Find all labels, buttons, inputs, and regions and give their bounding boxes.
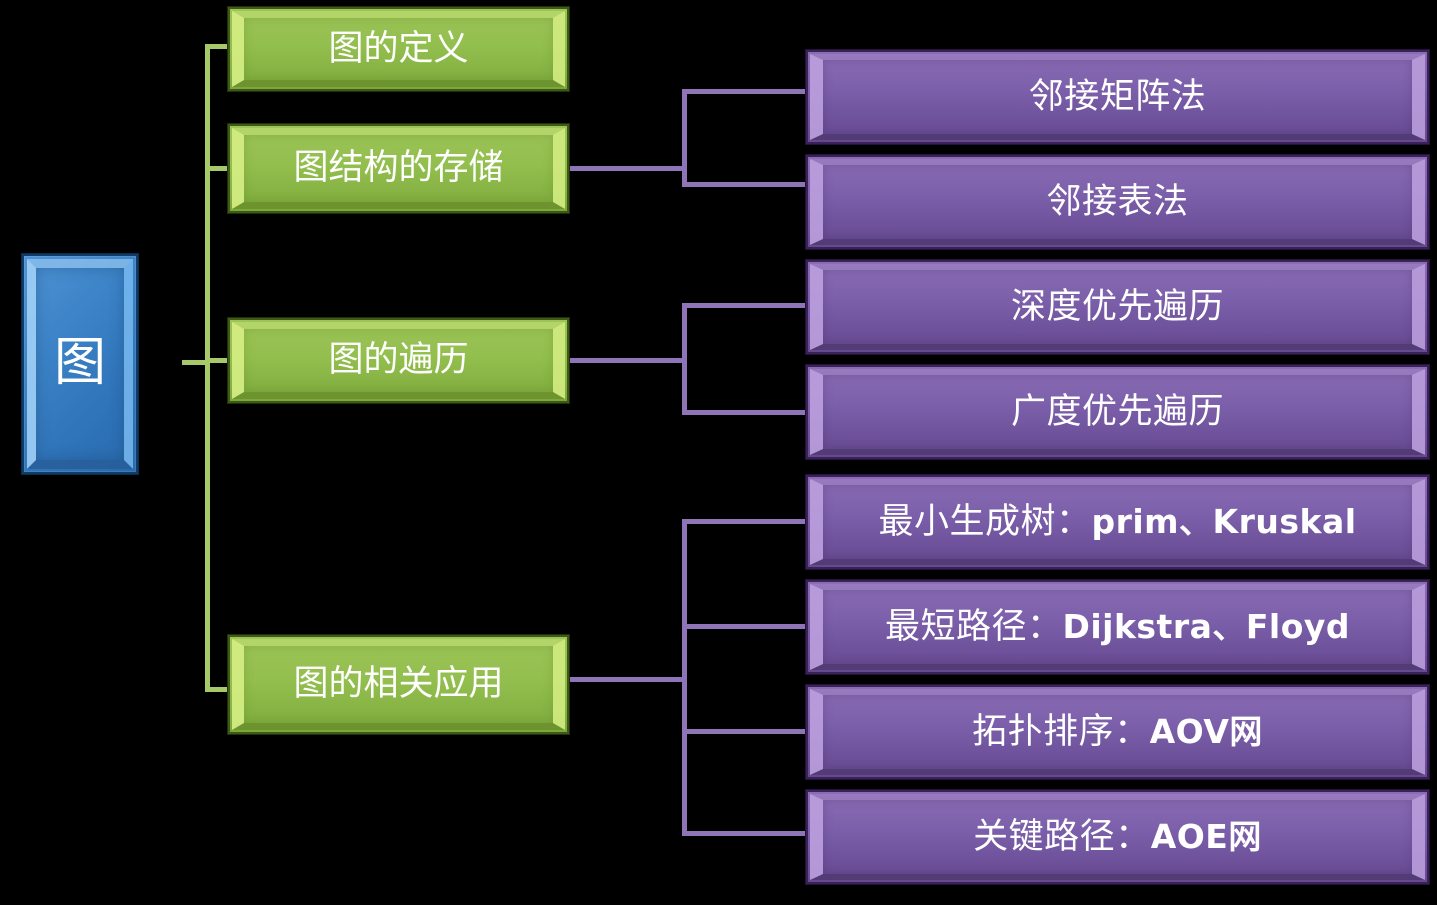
connector-purple-spine-a — [682, 89, 687, 187]
branch-node-label: 图的遍历 — [230, 341, 567, 380]
leaf-node-label: 最短路径：Dijkstra、Floyd — [808, 608, 1427, 647]
connector-purple-arm-c4 — [682, 831, 810, 836]
diagram-canvas: 图 图的定义 图结构的存储 图的遍历 图的相关应用 邻接矩阵法 邻接表法 深度优… — [0, 0, 1437, 905]
leaf-node-critical-path[interactable]: 关键路径：AOE网 — [806, 790, 1429, 884]
leaf-node-label: 关键路径：AOE网 — [808, 818, 1427, 857]
connector-root-stub — [182, 360, 210, 365]
leaf-node-bfs[interactable]: 广度优先遍历 — [806, 365, 1429, 459]
connector-purple-arm-b2 — [682, 410, 810, 415]
branch-node-label: 图结构的存储 — [230, 149, 567, 188]
leaf-node-dfs[interactable]: 深度优先遍历 — [806, 260, 1429, 354]
leaf-node-label-en: Dijkstra、Floyd — [1062, 607, 1350, 646]
leaf-node-label-cn: 拓扑排序： — [972, 712, 1150, 751]
leaf-node-label-cn: 最小生成树： — [878, 502, 1091, 541]
branch-node-label: 图的定义 — [230, 30, 567, 69]
leaf-node-label: 拓扑排序：AOV网 — [808, 713, 1427, 752]
root-node-label: 图 — [24, 335, 136, 392]
connector-purple-spine-c — [682, 519, 687, 831]
branch-node-storage[interactable]: 图结构的存储 — [228, 124, 569, 213]
connector-green-trunk — [205, 44, 210, 692]
leaf-node-label: 深度优先遍历 — [808, 288, 1427, 327]
connector-purple-stem-b — [568, 358, 686, 363]
leaf-node-label-cn: 邻接表法 — [1046, 182, 1188, 221]
connector-purple-arm-b1 — [682, 303, 810, 308]
root-node-graph[interactable]: 图 — [22, 254, 138, 474]
leaf-node-label-cn: 关键路径： — [973, 817, 1151, 856]
branch-node-definition[interactable]: 图的定义 — [228, 7, 569, 91]
connector-purple-arm-a1 — [682, 89, 810, 94]
leaf-node-label-en: AOE网 — [1151, 817, 1262, 856]
leaf-node-label-en: AOV网 — [1150, 712, 1263, 751]
branch-node-label: 图的相关应用 — [230, 665, 567, 704]
leaf-node-label: 最小生成树：prim、Kruskal — [808, 503, 1427, 542]
leaf-node-label-cn: 深度优先遍历 — [1011, 287, 1224, 326]
branch-node-traversal[interactable]: 图的遍历 — [228, 318, 569, 403]
connector-purple-arm-c3 — [682, 729, 810, 734]
leaf-node-label: 广度优先遍历 — [808, 393, 1427, 432]
leaf-node-shortest-path[interactable]: 最短路径：Dijkstra、Floyd — [806, 580, 1429, 674]
connector-purple-arm-a2 — [682, 182, 810, 187]
leaf-node-label: 邻接表法 — [808, 183, 1427, 222]
leaf-node-label: 邻接矩阵法 — [808, 78, 1427, 117]
leaf-node-label-cn: 邻接矩阵法 — [1029, 77, 1207, 116]
leaf-node-adjacency-list[interactable]: 邻接表法 — [806, 155, 1429, 249]
leaf-node-label-cn: 广度优先遍历 — [1011, 392, 1224, 431]
leaf-node-topological-sort[interactable]: 拓扑排序：AOV网 — [806, 685, 1429, 779]
branch-node-applications[interactable]: 图的相关应用 — [228, 635, 569, 734]
leaf-node-label-en: prim、Kruskal — [1091, 502, 1356, 541]
connector-purple-stem-c — [568, 677, 686, 682]
connector-purple-spine-b — [682, 303, 687, 415]
leaf-node-label-cn: 最短路径： — [885, 607, 1063, 646]
leaf-node-mst[interactable]: 最小生成树：prim、Kruskal — [806, 475, 1429, 569]
connector-purple-stem-a — [568, 166, 686, 171]
connector-purple-arm-c1 — [682, 519, 810, 524]
leaf-node-adjacency-matrix[interactable]: 邻接矩阵法 — [806, 50, 1429, 144]
connector-purple-arm-c2 — [682, 624, 810, 629]
